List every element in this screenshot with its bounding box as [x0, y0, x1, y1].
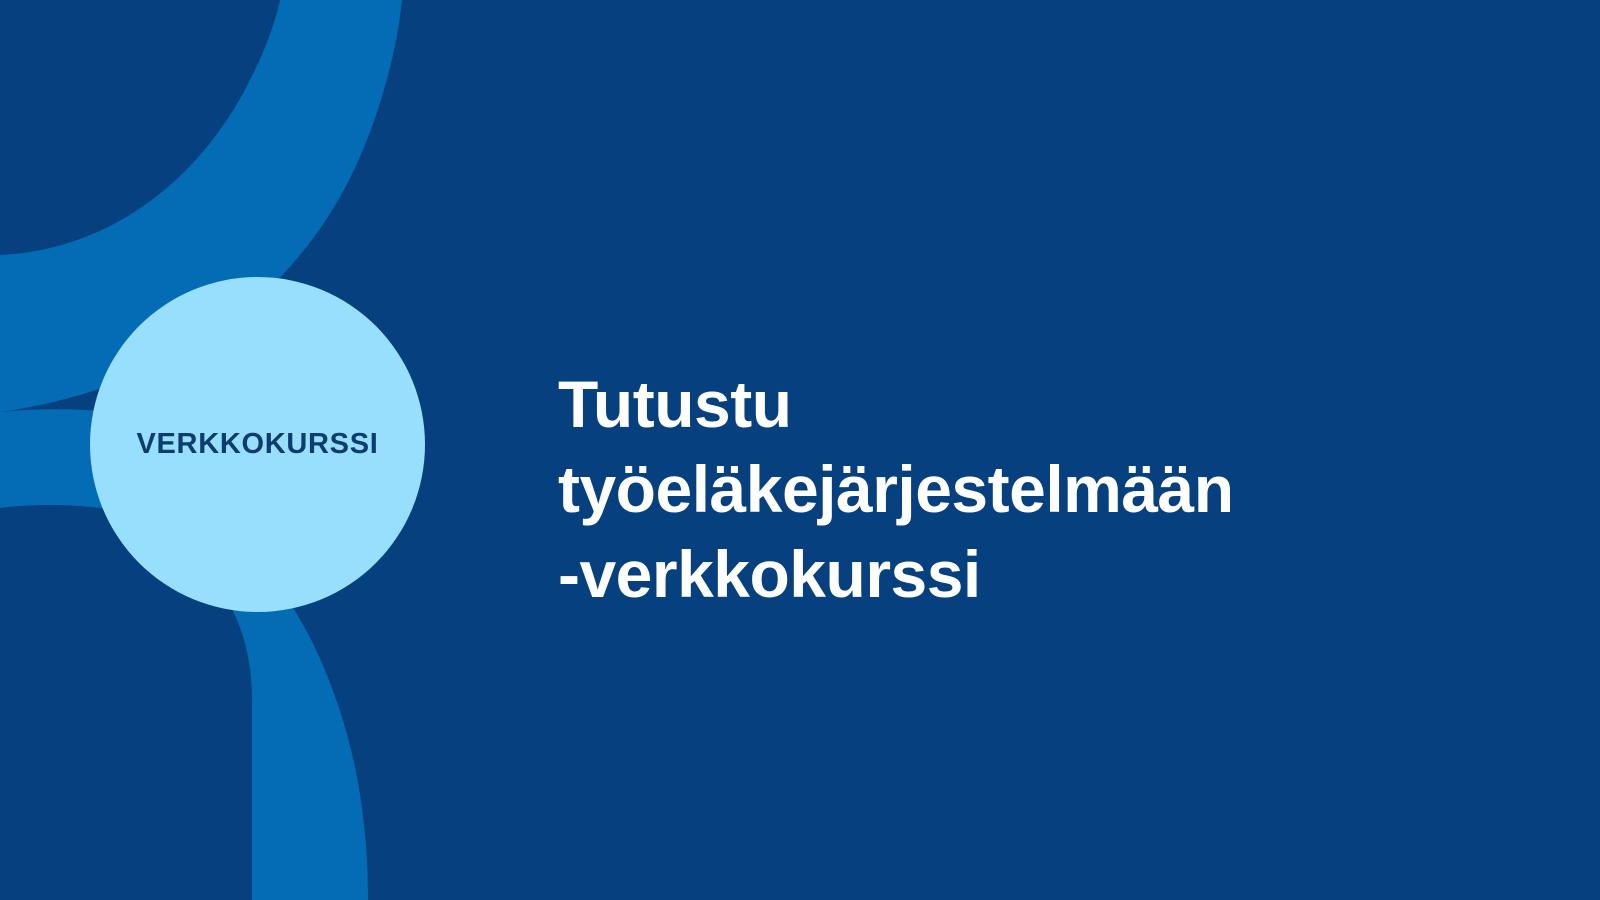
page-title-line-2: työeläkejärjestelmään: [558, 447, 1358, 532]
page-title-line-1: Tutustu: [558, 362, 1358, 447]
course-type-badge: VERKKOKURSSI: [90, 277, 425, 612]
badge-label: VERKKOKURSSI: [136, 430, 378, 459]
page-title: Tutustu työeläkejärjestelmään -verkkokur…: [558, 362, 1358, 617]
page-title-line-3: -verkkokurssi: [558, 532, 1358, 617]
promo-banner: VERKKOKURSSI Tutustu työeläkejärjestelmä…: [0, 0, 1600, 900]
